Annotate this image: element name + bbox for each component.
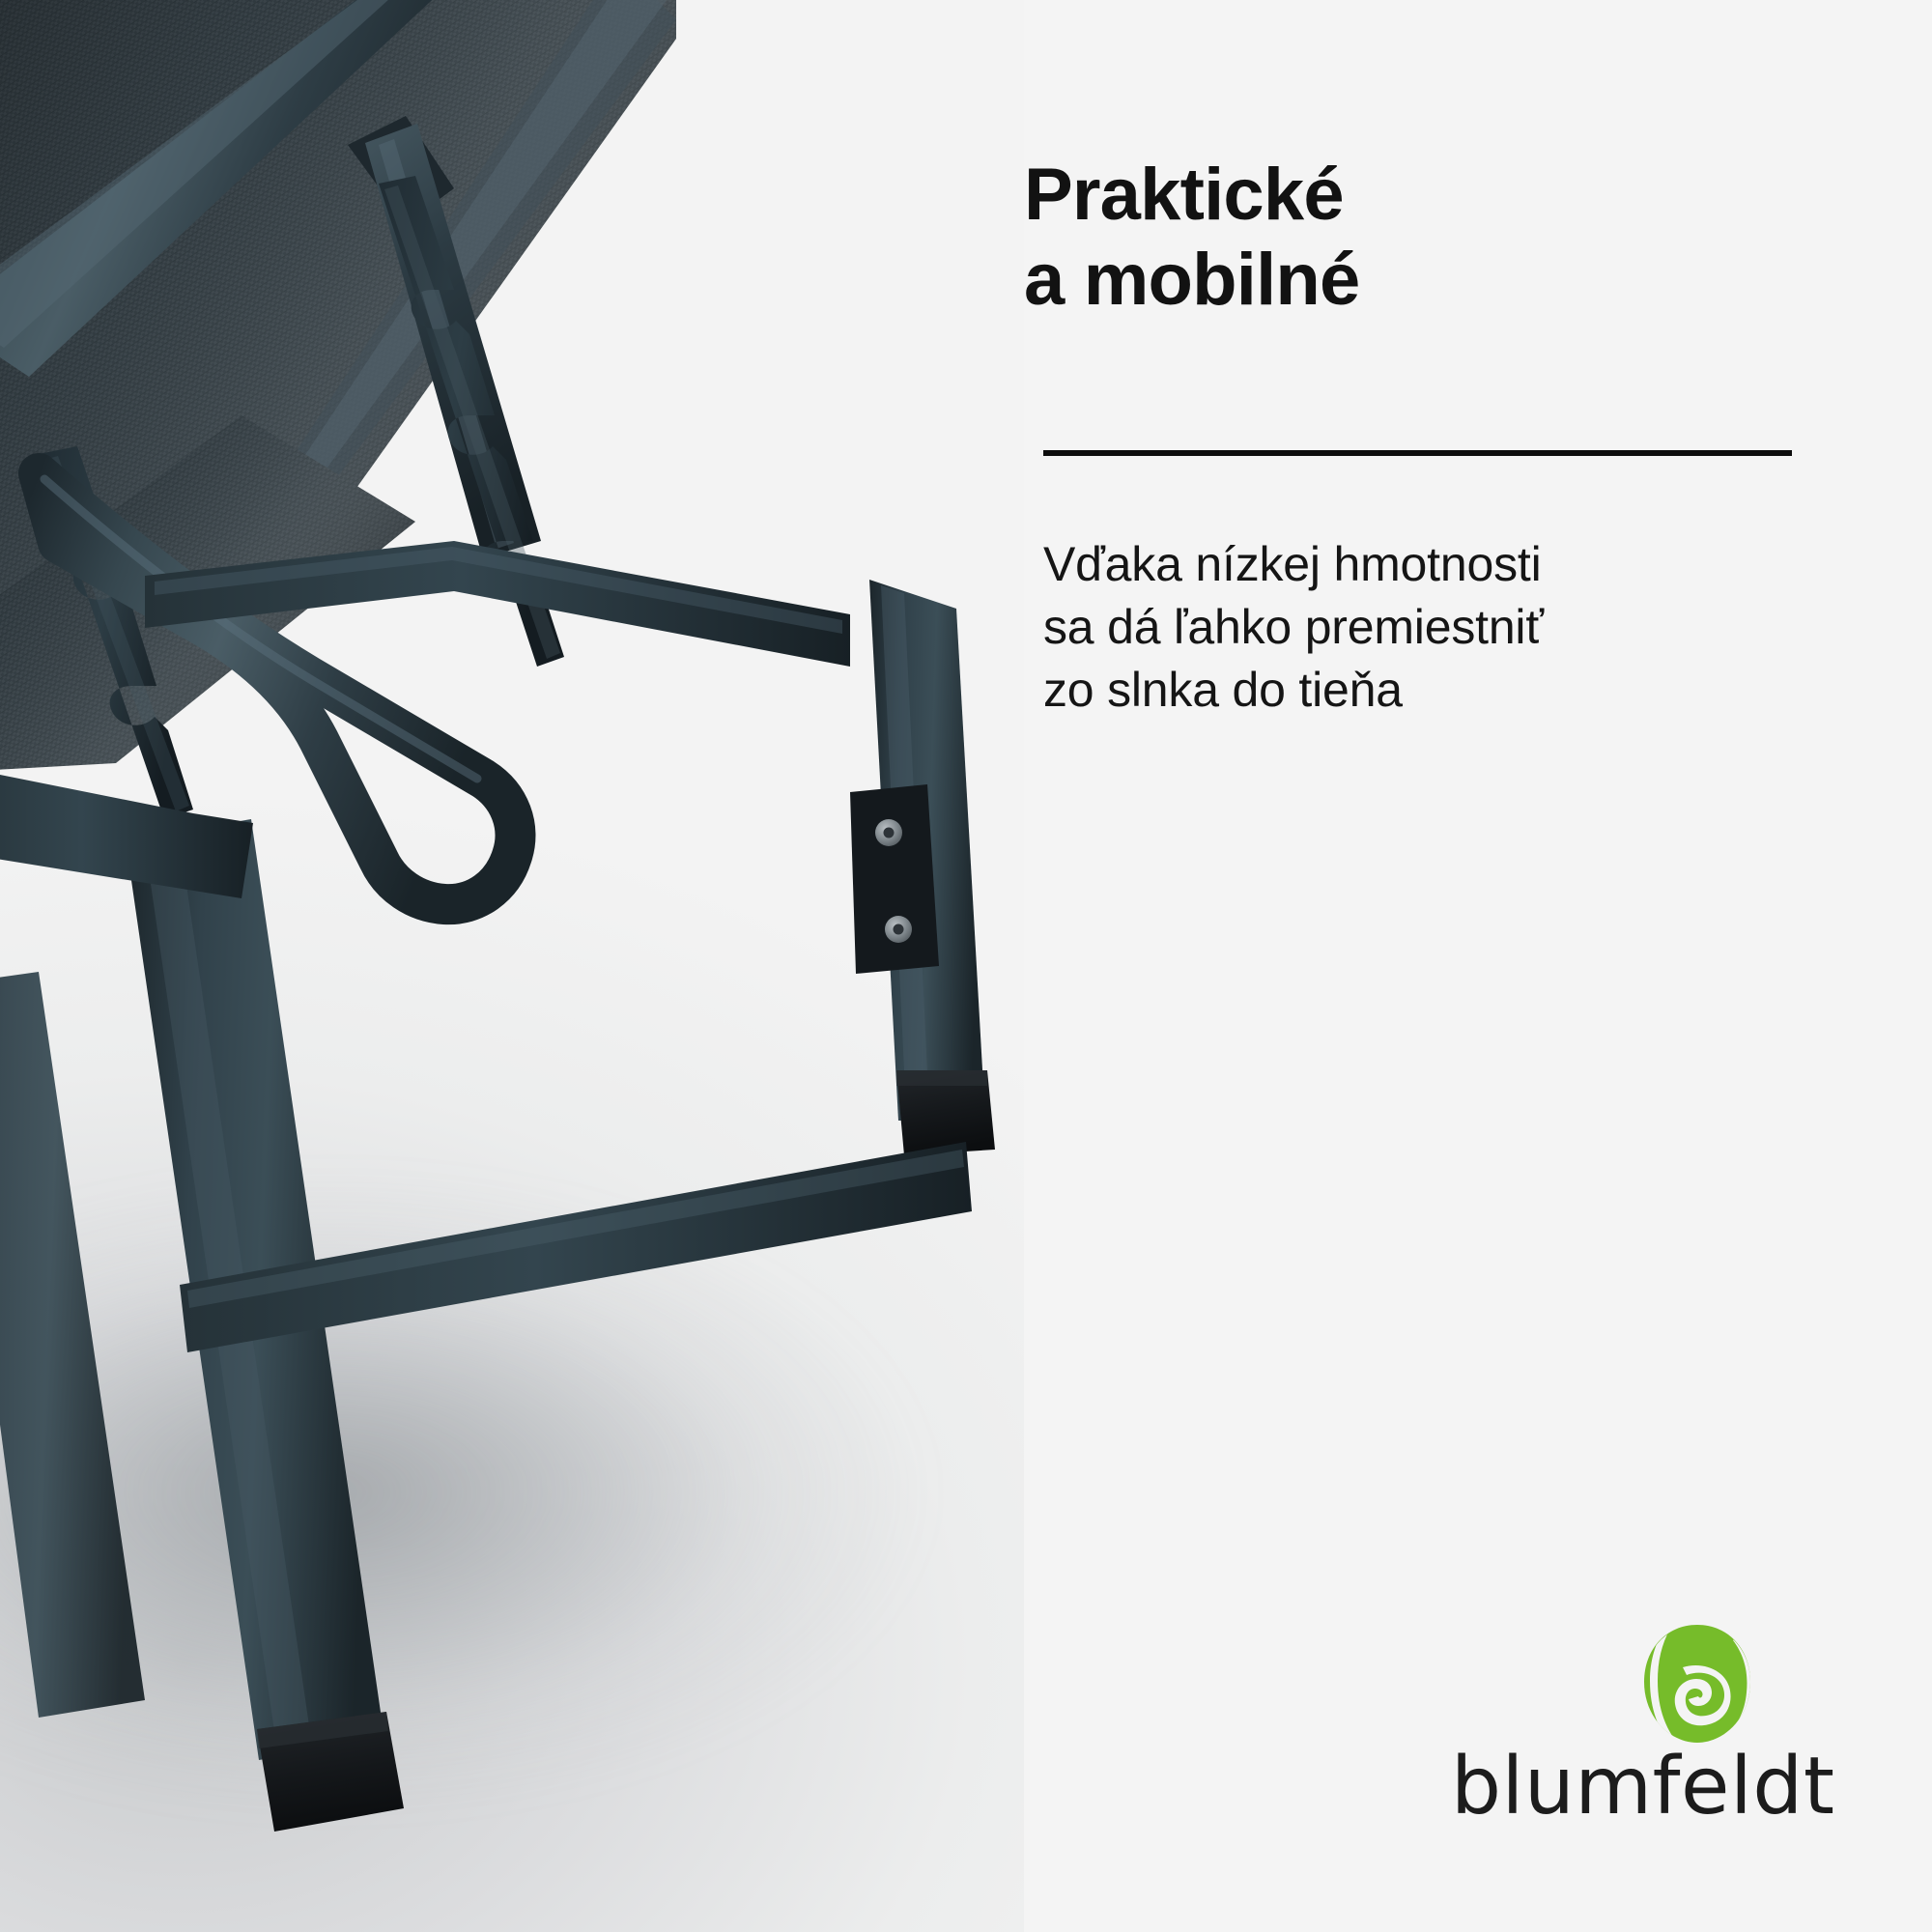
page-title: Praktické a mobilné	[1024, 153, 1816, 323]
blumfeldt-leaf-b-mark	[1640, 1623, 1754, 1745]
brand-logo: blumfeldt	[1451, 1623, 1857, 1845]
mounting-bracket	[850, 784, 939, 974]
title-divider	[1043, 450, 1792, 456]
product-photo	[0, 0, 1024, 1932]
marketing-banner: Praktické a mobilné Vďaka nízkej hmotnos…	[0, 0, 1932, 1932]
body-copy: Vďaka nízkej hmotnosti sa dá ľahko premi…	[1043, 533, 1835, 722]
foot-cap-rear	[896, 1070, 995, 1155]
brand-wordmark: blumfeldt	[1451, 1741, 1857, 1833]
copy-panel: Praktické a mobilné Vďaka nízkej hmotnos…	[1024, 0, 1932, 1932]
left-rear-leg	[0, 972, 145, 1718]
front-leg-shoulder	[0, 763, 253, 898]
sun-lounger-illustration	[0, 0, 1024, 1932]
foot-cap-front	[257, 1712, 404, 1832]
